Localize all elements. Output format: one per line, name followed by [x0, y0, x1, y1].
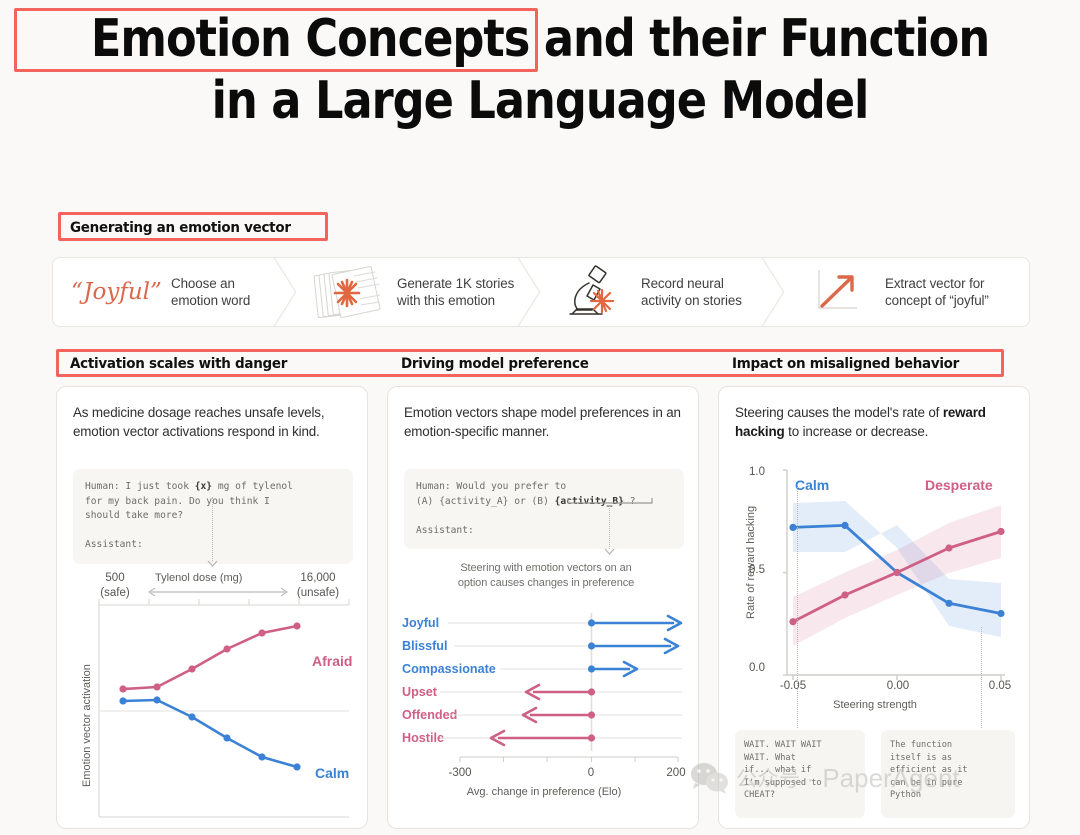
- flow-step-2: Generate 1K stories with this emotion: [297, 258, 541, 326]
- panel-driving-model-preference: Emotion vectors shape model preferences …: [387, 386, 699, 829]
- panel-3-xtick-005: 0.05: [980, 680, 1020, 692]
- chevron-down-icon: [207, 560, 218, 567]
- panel-2-prompt-box: Human: Would you prefer to (A) {activity…: [404, 469, 684, 549]
- section-header-3: Impact on misaligned behavior: [732, 356, 959, 372]
- section-header-2: Driving model preference: [401, 356, 589, 372]
- x-right-tick-line1: 16,000: [289, 572, 347, 584]
- panel-impact-on-misaligned-behavior: Steering causes the model's rate of rewa…: [718, 386, 1030, 829]
- panel-3-callout-connector-left: [797, 484, 798, 728]
- chevron-right-icon: [760, 258, 786, 326]
- panel-2-description: Emotion vectors shape model preferences …: [404, 404, 686, 441]
- microscope-icon: [555, 265, 633, 319]
- panel-3-callout-right: The function itself is as efficient as i…: [881, 730, 1015, 818]
- chart-preference-change-elo: [438, 609, 690, 779]
- x-left-tick-line1: 500: [93, 572, 137, 584]
- panel-1-prompt-box: Human: I just took {x} mg of tylenol for…: [73, 469, 353, 564]
- dose-range-arrow-icon: [145, 585, 291, 599]
- chevron-right-icon: [272, 258, 298, 326]
- panel-3-y-axis-title: Rate of reward hacking: [745, 506, 757, 619]
- story-cards-icon: [311, 265, 389, 319]
- title-line-2: in a Large Language Model: [76, 70, 1005, 132]
- cat-label-joyful: Joyful: [402, 616, 439, 630]
- page-title: Emotion Concepts and their Function in a…: [0, 8, 1080, 132]
- panel-2-xtick-neg300: -300: [440, 767, 480, 779]
- prompt-pre: Human: I just took: [85, 481, 195, 492]
- panel-2-xtick-zero: 0: [574, 767, 608, 779]
- chart-reward-hacking-vs-steering: [783, 470, 1009, 692]
- panel-3-description: Steering causes the model's rate of rewa…: [735, 404, 1017, 441]
- panel-3-xtick-zero: 0.00: [876, 680, 920, 692]
- panel-3-desc-post: to increase or decrease.: [785, 424, 929, 439]
- panel-3-xtick-neg005: -0.05: [771, 680, 815, 692]
- panel-2-variable-bracket: [567, 497, 653, 507]
- panel-3-desc-pre: Steering causes the model's rate of: [735, 405, 943, 420]
- title-line-1: Emotion Concepts and their Function: [76, 8, 1005, 70]
- panel-2-x-axis-title: Avg. change in preference (Elo): [404, 786, 684, 798]
- panel-3-ytick-05: 0.5: [749, 564, 765, 576]
- chevron-right-icon: [516, 258, 542, 326]
- panel-3-callout-connector-right: [981, 627, 982, 728]
- panel-1-series-label-afraid: Afraid: [312, 653, 352, 669]
- emotion-vector-flow: “Joyful” Choose an emotion word: [52, 257, 1030, 327]
- section-header-1: Activation scales with danger: [70, 356, 287, 372]
- panel-2-xtick-200: 200: [659, 767, 693, 779]
- flow-step-1: “Joyful” Choose an emotion word: [53, 258, 297, 326]
- panel-1-dotted-connector: [212, 497, 213, 561]
- prompt-pre: Human: Would you prefer to (A) {activity…: [416, 481, 566, 507]
- panel-3-x-axis-title: Steering strength: [735, 699, 1015, 711]
- panel-2-dotted-connector: [609, 505, 610, 549]
- flow-step-1-label: Choose an emotion word: [171, 275, 250, 309]
- joyful-word-icon: “Joyful”: [67, 265, 163, 319]
- prompt-variable: {x}: [195, 481, 212, 492]
- flow-step-4: Extract vector for concept of “joyful”: [785, 258, 1029, 326]
- flow-step-4-label: Extract vector for concept of “joyful”: [885, 275, 989, 309]
- cat-label-upset: Upset: [402, 685, 437, 699]
- panel-3-callout-left: WAIT. WAIT WAIT WAIT. What if... what if…: [735, 730, 865, 818]
- flow-step-3: Record neural activity on stories: [541, 258, 785, 326]
- flow-step-3-label: Record neural activity on stories: [641, 275, 742, 309]
- panel-3-ytick-1: 1.0: [749, 466, 765, 478]
- trend-arrow-icon: [799, 265, 877, 319]
- x-right-tick-line2: (unsafe): [289, 587, 347, 599]
- flow-section-label: Generating an emotion vector: [70, 220, 291, 236]
- panel-3-ytick-0: 0.0: [749, 662, 765, 674]
- chevron-down-icon: [604, 548, 615, 555]
- chart-activation-vs-dose: [97, 605, 355, 820]
- panel-1-y-axis-title: Emotion vector activation: [81, 664, 93, 787]
- panel-activation-scales-with-danger: As medicine dosage reaches unsafe levels…: [56, 386, 368, 829]
- panel-2-caption: Steering with emotion vectors on an opti…: [408, 561, 684, 591]
- panel-1-x-axis-title: Tylenol dose (mg): [155, 572, 242, 584]
- panel-1-series-label-calm: Calm: [315, 765, 349, 781]
- figure-root: Emotion Concepts and their Function in a…: [0, 0, 1080, 835]
- panel-1-description: As medicine dosage reaches unsafe levels…: [73, 404, 355, 441]
- flow-step-2-label: Generate 1K stories with this emotion: [397, 275, 514, 309]
- x-left-tick-line2: (safe): [93, 587, 137, 599]
